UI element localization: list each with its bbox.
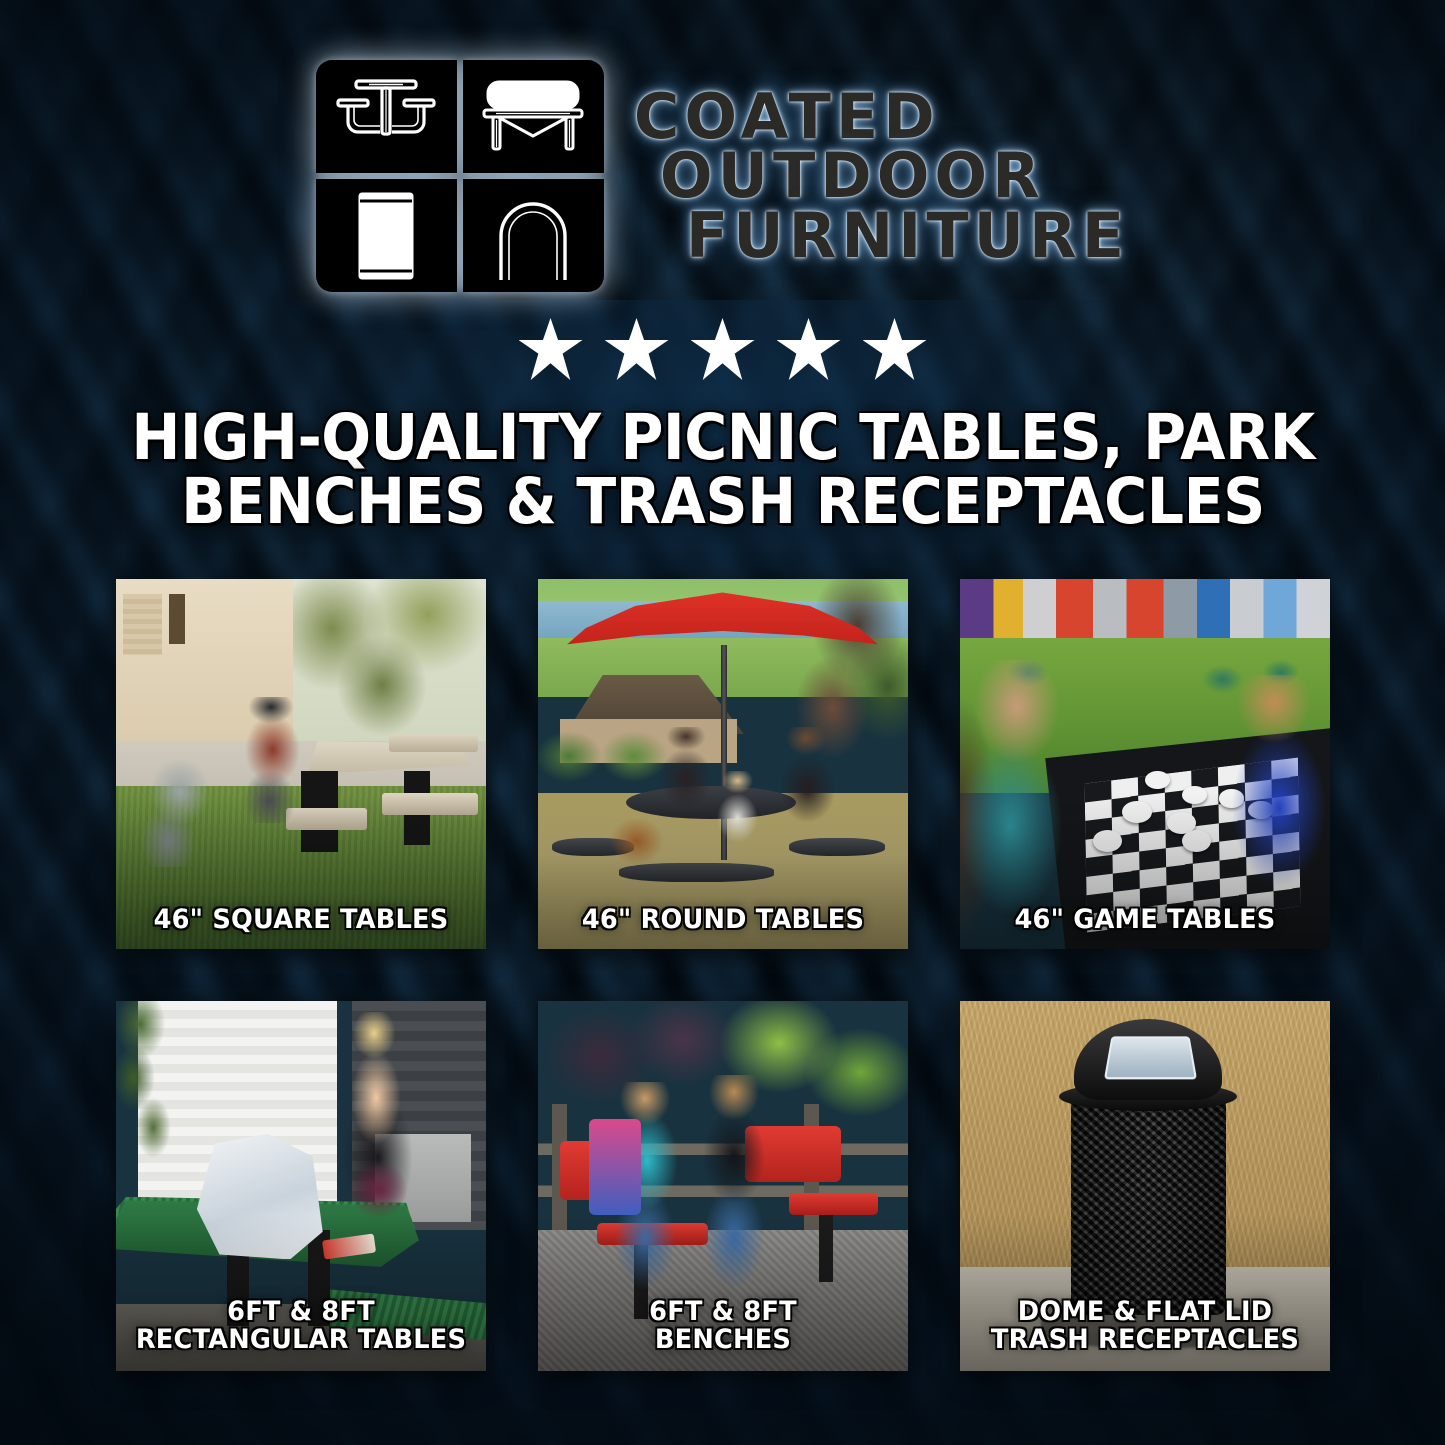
brand-wordmark: COATED OUTDOOR FURNITURE: [634, 87, 1129, 266]
brand-logo: COATED OUTDOOR FURNITURE: [0, 0, 1445, 292]
product-photo-round-tables: [538, 579, 908, 949]
product-tile[interactable]: 6FT & 8FT RECTANGULAR TABLES: [116, 1001, 486, 1371]
headline-line-1: HIGH-QUALITY PICNIC TABLES, PARK: [123, 406, 1323, 470]
product-photo-square-tables: [116, 579, 486, 949]
product-tile[interactable]: DOME & FLAT LID TRASH RECEPTACLES: [960, 1001, 1330, 1371]
caption-line-1: 46" SQUARE TABLES: [125, 906, 477, 934]
star-icon: [605, 318, 669, 380]
caption-line-1: 6FT & 8FT: [125, 1298, 477, 1326]
star-icon: [777, 318, 841, 380]
caption-line-1: 46" GAME TABLES: [969, 906, 1321, 934]
brand-line-3: FURNITURE: [634, 206, 1129, 266]
product-tile[interactable]: 46" GAME TABLES: [960, 579, 1330, 949]
caption-line-2: RECTANGULAR TABLES: [125, 1326, 477, 1354]
caption-line-1: 46" ROUND TABLES: [547, 906, 899, 934]
product-caption: 46" GAME TABLES: [969, 906, 1321, 934]
product-photo-game-tables: [960, 579, 1330, 949]
product-caption: 6FT & 8FT RECTANGULAR TABLES: [125, 1298, 477, 1354]
caption-line-1: 6FT & 8FT: [547, 1298, 899, 1326]
brand-line-2: OUTDOOR: [634, 146, 1045, 206]
star-rating: [0, 318, 1445, 380]
logo-icon-grid: [316, 60, 604, 292]
trash-receptacle-icon: [316, 179, 457, 292]
caption-line-2: TRASH RECEPTACLES: [969, 1326, 1321, 1354]
caption-line-1: DOME & FLAT LID: [969, 1298, 1321, 1326]
product-caption: 46" SQUARE TABLES: [125, 906, 477, 934]
product-tile[interactable]: 46" ROUND TABLES: [538, 579, 908, 949]
product-grid: 46" SQUARE TABLES: [115, 579, 1330, 1371]
star-icon: [691, 318, 755, 380]
product-tile[interactable]: 46" SQUARE TABLES: [116, 579, 486, 949]
product-tile[interactable]: 6FT & 8FT BENCHES: [538, 1001, 908, 1371]
headline-line-2: BENCHES & TRASH RECEPTACLES: [123, 470, 1323, 534]
star-icon: [863, 318, 927, 380]
bench-icon: [463, 60, 604, 173]
brand-line-1: COATED: [634, 87, 940, 147]
product-caption: 6FT & 8FT BENCHES: [547, 1298, 899, 1354]
product-caption: DOME & FLAT LID TRASH RECEPTACLES: [969, 1298, 1321, 1354]
promotional-ad: COATED OUTDOOR FURNITURE HIGH-QUALITY PI…: [0, 0, 1445, 1445]
caption-line-2: BENCHES: [547, 1326, 899, 1354]
product-caption: 46" ROUND TABLES: [547, 906, 899, 934]
star-icon: [519, 318, 583, 380]
headline: HIGH-QUALITY PICNIC TABLES, PARK BENCHES…: [123, 406, 1323, 535]
picnic-table-icon: [316, 60, 457, 173]
bike-rack-arch-icon: [463, 179, 604, 292]
